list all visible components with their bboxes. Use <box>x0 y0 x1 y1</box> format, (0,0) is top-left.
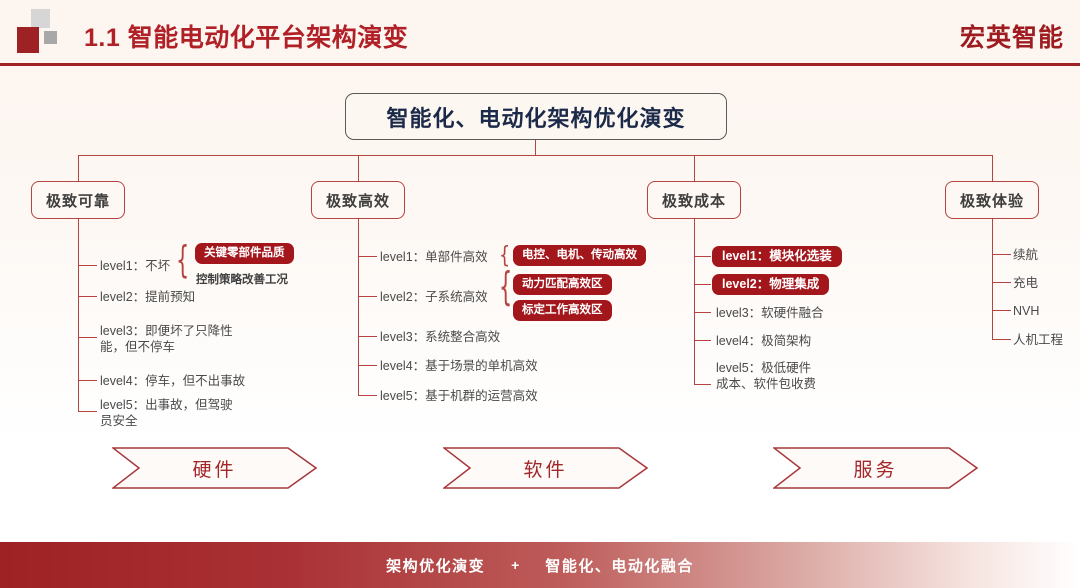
spine-col-1 <box>78 235 79 412</box>
level-item-2-3: level3：系统整合高效 <box>380 329 500 345</box>
branch-4-3 <box>992 310 1011 311</box>
brace-2-2: { <box>499 269 512 308</box>
branch-3-4 <box>694 340 711 341</box>
branch-4-2 <box>992 282 1011 283</box>
brace-2-1: { <box>499 244 510 267</box>
decor-square-dark <box>17 27 39 53</box>
level-item-3-3: level3：软硬件融合 <box>716 305 824 321</box>
connector-bus <box>78 155 993 156</box>
decor-square-mid <box>44 31 57 44</box>
level-item-2-1: level1：单部件高效 <box>380 249 488 265</box>
connector-drop-col-2 <box>358 155 359 181</box>
branch-3-2 <box>694 284 711 285</box>
connector-root-stem <box>535 140 536 156</box>
connector-spine-stub-3 <box>694 219 695 235</box>
connector-spine-stub-2 <box>358 219 359 235</box>
footer-content: 架构优化演变 + 智能化、电动化融合 <box>0 542 1080 588</box>
annotation-pill-2-1-1: 电控、电机、传动高效 <box>513 245 646 266</box>
spine-col-3 <box>694 235 695 385</box>
spine-col-2 <box>358 235 359 396</box>
footer-label-left: 架构优化演变 <box>386 555 485 576</box>
slide-canvas: 1.1 智能电动化平台架构演变 宏英智能 智能化、电动化架构优化演变 极致可靠 … <box>0 0 1080 588</box>
page-title: 1.1 智能电动化平台架构演变 <box>84 18 408 54</box>
branch-2-5 <box>358 395 377 396</box>
level-item-3-4: level4：极简架构 <box>716 333 811 349</box>
annotation-pill-2-2-1: 动力匹配高效区 <box>513 274 612 295</box>
branch-1-2 <box>78 296 97 297</box>
root-node-label: 智能化、电动化架构优化演变 <box>386 101 685 133</box>
spine-col-4 <box>992 235 993 340</box>
branch-3-3 <box>694 312 711 313</box>
level-item-1-5: level5：出事故，但驾驶 员安全 <box>100 397 233 429</box>
annotation-pill-1-1-1: 关键零部件品质 <box>195 243 294 264</box>
connector-drop-col-3 <box>694 155 695 181</box>
level-item-4-2: 充电 <box>1013 275 1038 291</box>
slide-footer: 架构优化演变 + 智能化、电动化融合 <box>0 542 1080 588</box>
level-item-4-3: NVH <box>1013 303 1039 319</box>
branch-3-5 <box>694 384 711 385</box>
annotation-pill-2-2-2: 标定工作高效区 <box>513 300 612 321</box>
branch-2-1 <box>358 256 377 257</box>
category-box-3: 极致成本 <box>647 181 741 219</box>
level-item-4-1: 续航 <box>1013 247 1038 263</box>
connector-spine-stub-1 <box>78 219 79 235</box>
footer-label-right: 智能化、电动化融合 <box>545 555 694 576</box>
brand-logo-text: 宏英智能 <box>960 18 1064 54</box>
level-item-2-4: level4：基于场景的单机高效 <box>380 358 538 374</box>
chevron-software[interactable]: 软件 <box>443 447 648 489</box>
level-item-3-5: level5：极低硬件 成本、软件包收费 <box>716 360 816 392</box>
branch-1-5 <box>78 411 97 412</box>
category-label-1: 极致可靠 <box>46 190 110 211</box>
level-item-4-4: 人机工程 <box>1013 332 1063 348</box>
root-node: 智能化、电动化架构优化演变 <box>345 93 727 140</box>
branch-3-1 <box>694 256 711 257</box>
annotation-text-1-1-2: 控制策略改善工况 <box>196 273 288 287</box>
branch-4-1 <box>992 254 1011 255</box>
branch-2-4 <box>358 365 377 366</box>
brace-1-1: { <box>176 242 189 280</box>
decor-square-light <box>31 9 50 28</box>
connector-drop-col-1 <box>78 155 79 181</box>
footer-plus: + <box>511 557 519 573</box>
branch-2-3 <box>358 336 377 337</box>
connector-spine-stub-4 <box>992 219 993 235</box>
category-box-2: 极致高效 <box>311 181 405 219</box>
header-divider <box>0 63 1080 66</box>
level-item-1-4: level4：停车，但不出事故 <box>100 373 245 389</box>
level-item-2-5: level5：基于机群的运营高效 <box>380 388 538 404</box>
level-item-1-1: level1：不坏 <box>100 258 170 274</box>
category-label-2: 极致高效 <box>326 190 390 211</box>
chevron-service[interactable]: 服务 <box>773 447 978 489</box>
branch-1-1 <box>78 265 97 266</box>
category-box-4: 极致体验 <box>945 181 1039 219</box>
level-item-2-2: level2：子系统高效 <box>380 289 488 305</box>
category-label-3: 极致成本 <box>662 190 726 211</box>
category-box-1: 极致可靠 <box>31 181 125 219</box>
chevron-hardware[interactable]: 硬件 <box>112 447 317 489</box>
level-item-3-1: level1：模块化选装 <box>712 246 842 267</box>
branch-1-4 <box>78 380 97 381</box>
category-label-4: 极致体验 <box>960 190 1024 211</box>
connector-drop-col-4 <box>992 155 993 181</box>
level-item-1-2: level2：提前预知 <box>100 289 195 305</box>
branch-1-3 <box>78 337 97 338</box>
branch-2-2 <box>358 296 377 297</box>
branch-4-4 <box>992 339 1011 340</box>
slide-header: 1.1 智能电动化平台架构演变 宏英智能 <box>0 0 1080 66</box>
level-item-3-2: level2：物理集成 <box>712 274 829 295</box>
level-item-1-3: level3：即便坏了只降性 能，但不停车 <box>100 323 233 355</box>
